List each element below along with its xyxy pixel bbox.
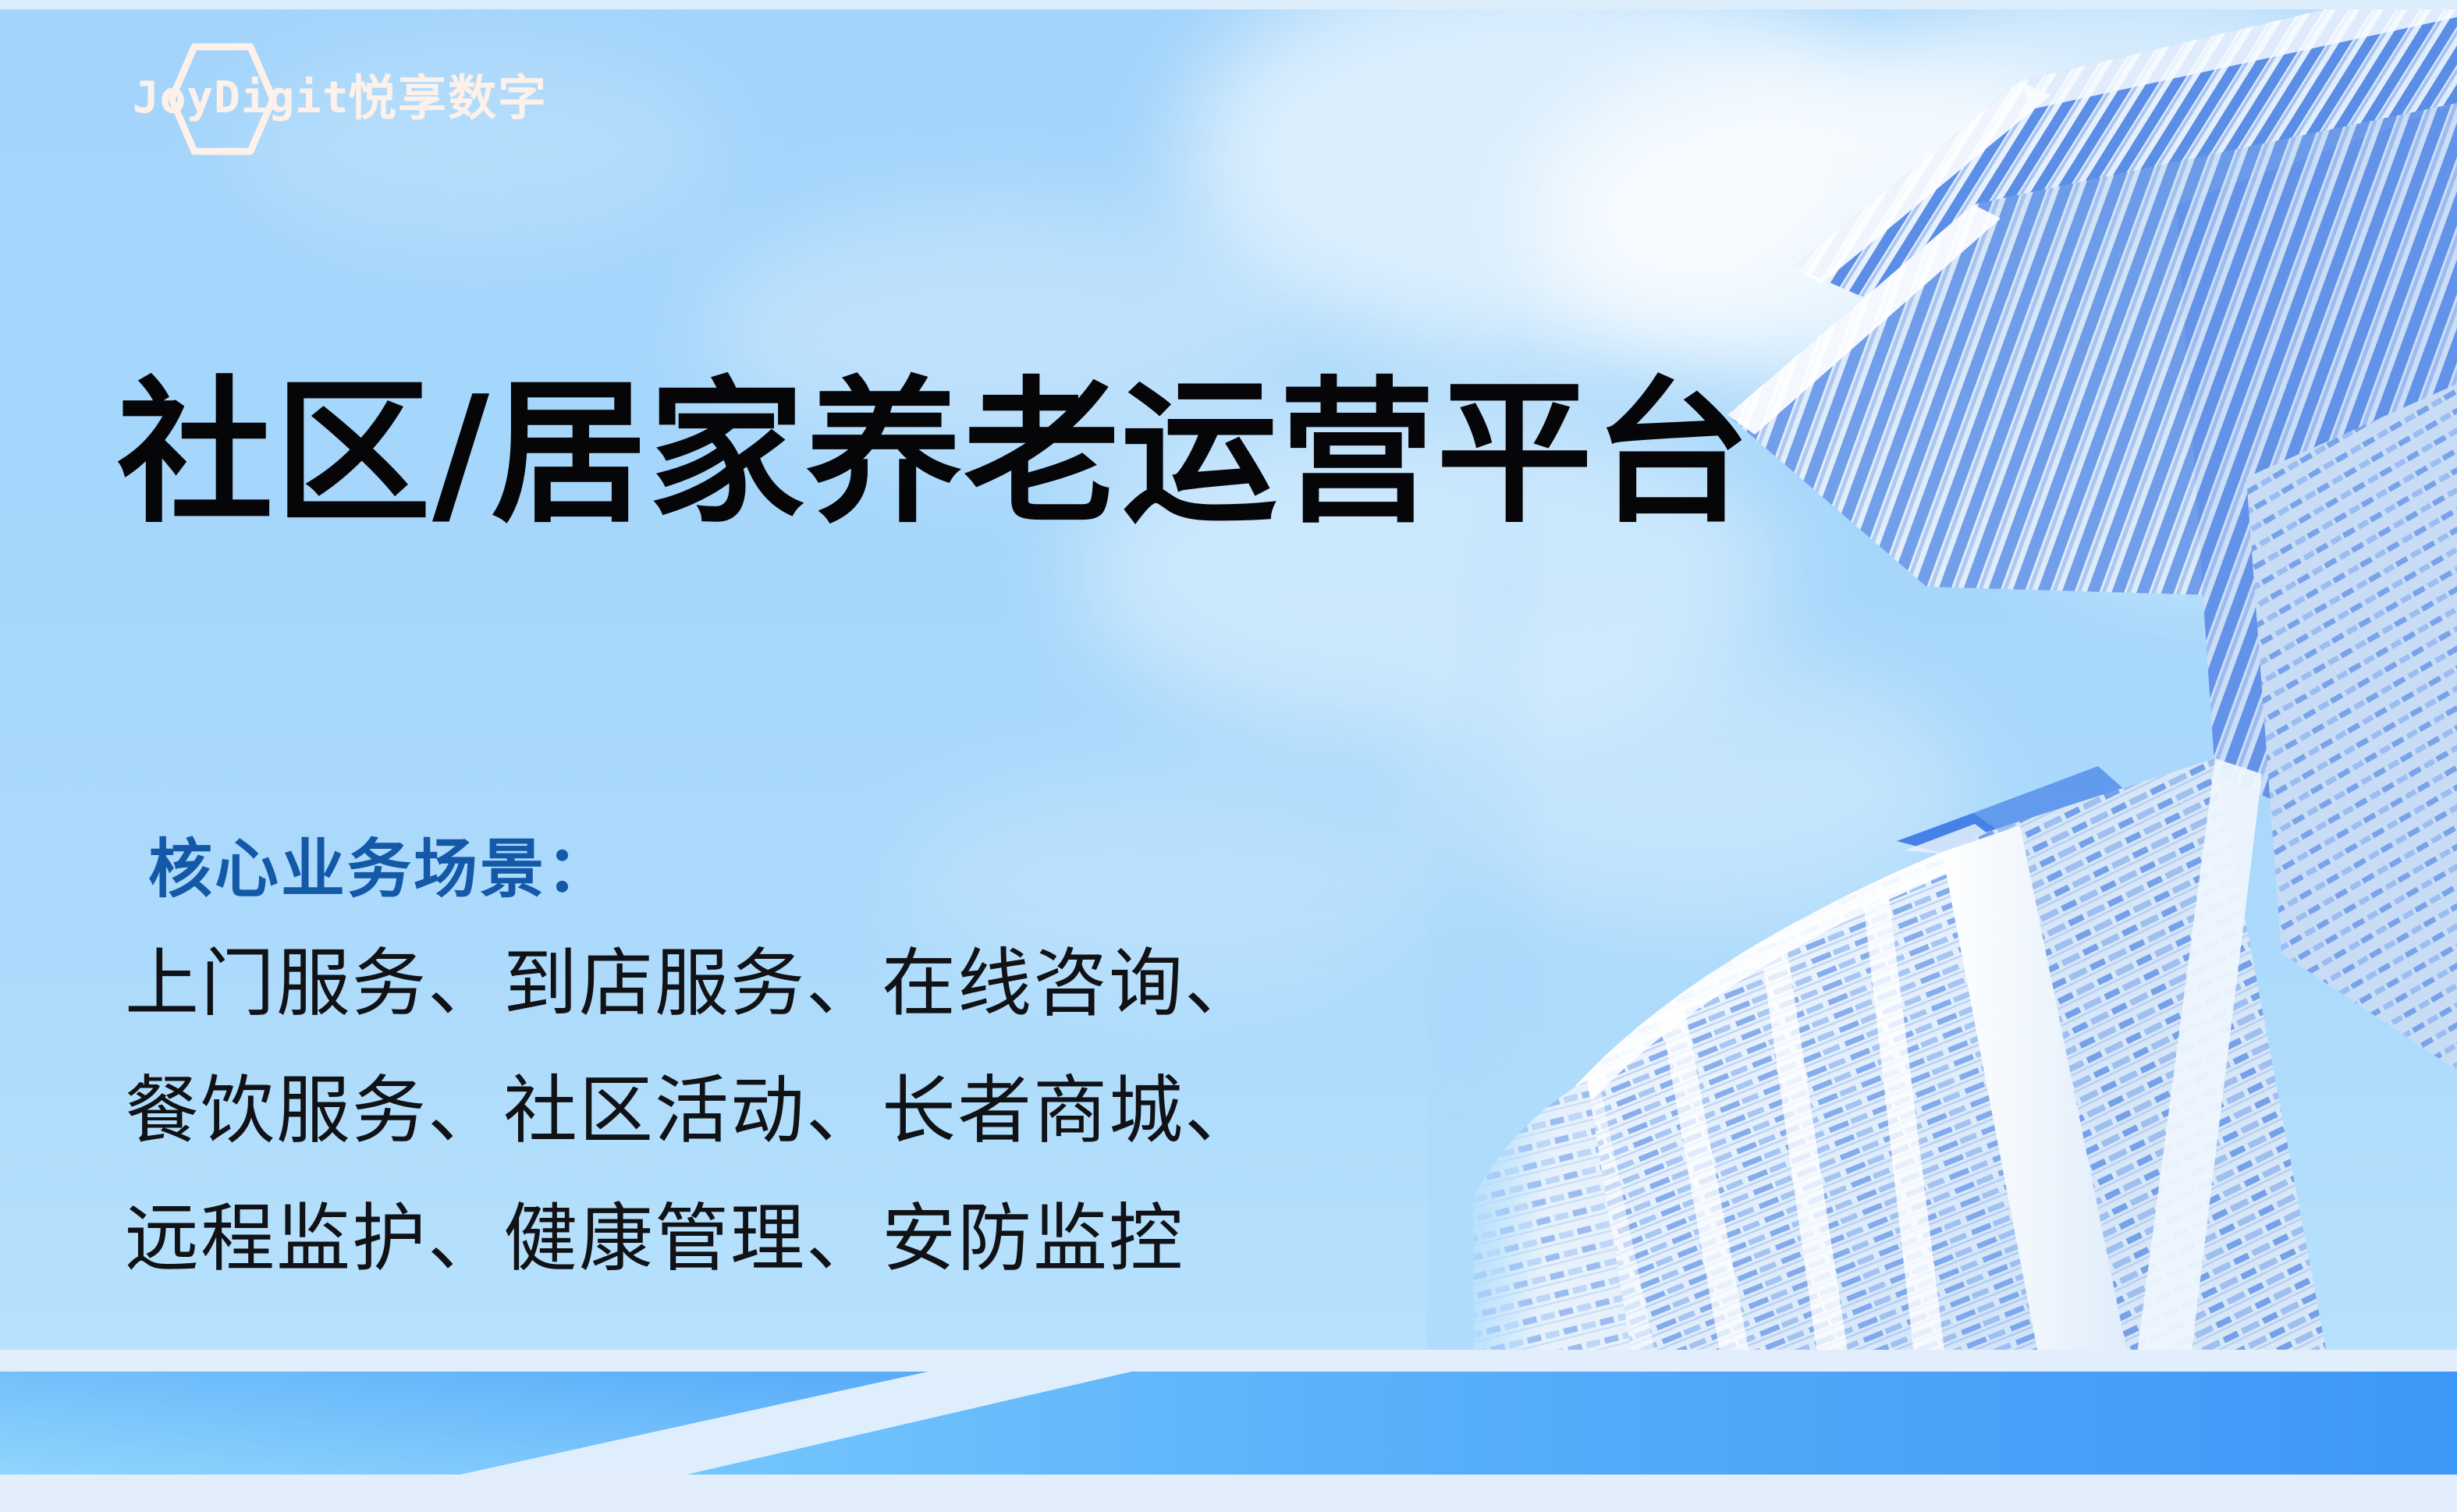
logo-chinese-name: 悦享数字 [348,74,548,122]
scenario-line: 远程监护、健康管理、安防监控 [125,1176,1260,1303]
slide-root: JoyDigit 悦享数字 社区/居家养老运营平台 核心业务场景： 上门服务、到… [0,0,2457,1512]
bottom-decoration-band [0,1350,2457,1512]
top-edge-strip [0,0,2457,9]
page-title: 社区/居家养老运营平台 [117,370,1752,538]
logo-wordmark: JoyDigit [133,76,350,120]
scenario-line: 上门服务、到店服务、在线咨询、 [125,921,1260,1048]
logo-mark: JoyDigit [133,61,328,136]
scenario-line: 餐饮服务、社区活动、长者商城、 [125,1048,1260,1175]
skyscraper-photo [1427,9,2457,1382]
core-scenarios-list: 上门服务、到店服务、在线咨询、 餐饮服务、社区活动、长者商城、 远程监护、健康管… [125,921,1260,1303]
brand-logo[interactable]: JoyDigit 悦享数字 [133,61,548,136]
section-heading-core-scenarios: 核心业务场景： [148,835,612,905]
